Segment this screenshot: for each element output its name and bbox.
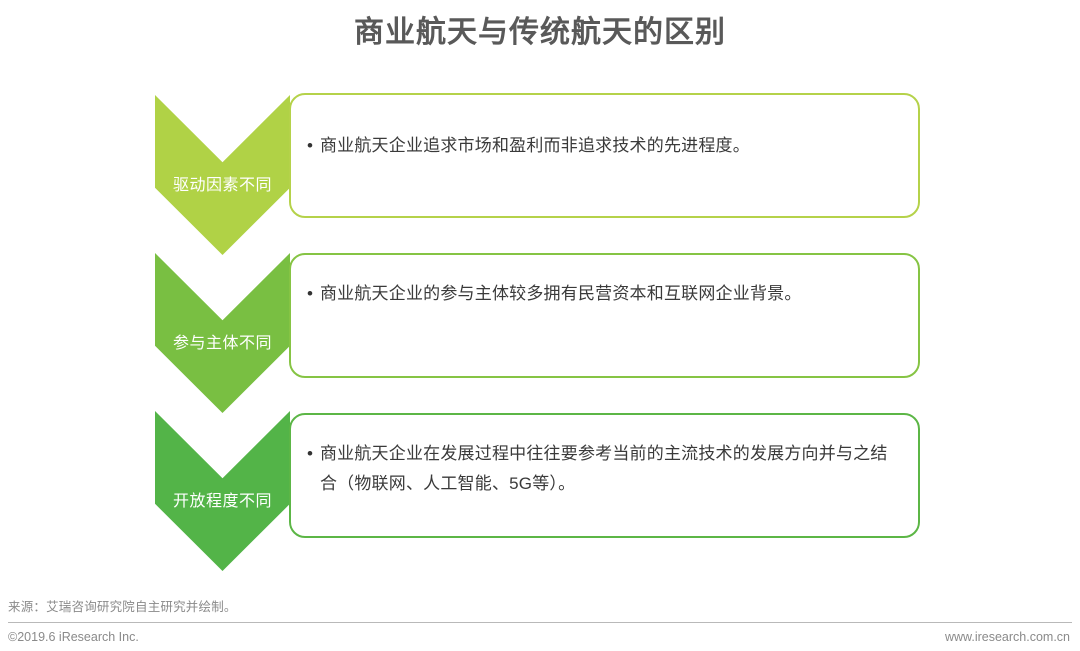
content-box-1[interactable]: • 商业航天企业追求市场和盈利而非追求技术的先进程度。 [289,93,920,218]
website-link[interactable]: www.iresearch.com.cn [945,630,1070,644]
chevron-step-1-label: 驱动因素不同 [173,175,272,197]
bullet-icon: • [307,131,313,161]
chevron-step-1[interactable]: 驱动因素不同 [155,95,290,255]
footer-divider [8,622,1072,623]
content-box-3-text: 商业航天企业在发展过程中往往要参考当前的主流技术的发展方向并与之结合（物联网、人… [320,439,900,499]
chevron-step-2-label: 参与主体不同 [173,333,272,355]
source-note: 来源：艾瑞咨询研究院自主研究并绘制。 [8,596,237,615]
chevron-step-2[interactable]: 参与主体不同 [155,253,290,413]
copyright-text: ©2019.6 iResearch Inc. [8,630,139,644]
bullet-row-1: • 商业航天企业追求市场和盈利而非追求技术的先进程度。 [307,131,900,161]
content-box-3[interactable]: • 商业航天企业在发展过程中往往要参考当前的主流技术的发展方向并与之结合（物联网… [289,413,920,538]
bullet-row-2: • 商业航天企业的参与主体较多拥有民营资本和互联网企业背景。 [307,279,900,309]
content-box-1-text: 商业航天企业追求市场和盈利而非追求技术的先进程度。 [320,131,750,161]
bullet-icon: • [307,279,313,309]
chevron-step-3[interactable]: 开放程度不同 [155,411,290,571]
chevron-step-3-label: 开放程度不同 [173,491,272,513]
bullet-row-3: • 商业航天企业在发展过程中往往要参考当前的主流技术的发展方向并与之结合（物联网… [307,439,900,499]
content-box-2-text: 商业航天企业的参与主体较多拥有民营资本和互联网企业背景。 [320,279,802,309]
bullet-icon: • [307,439,313,469]
content-box-2[interactable]: • 商业航天企业的参与主体较多拥有民营资本和互联网企业背景。 [289,253,920,378]
chevron-diagram: 驱动因素不同 • 商业航天企业追求市场和盈利而非追求技术的先进程度。 参与主体不… [0,85,1080,590]
page-title: 商业航天与传统航天的区别 [0,12,1080,54]
